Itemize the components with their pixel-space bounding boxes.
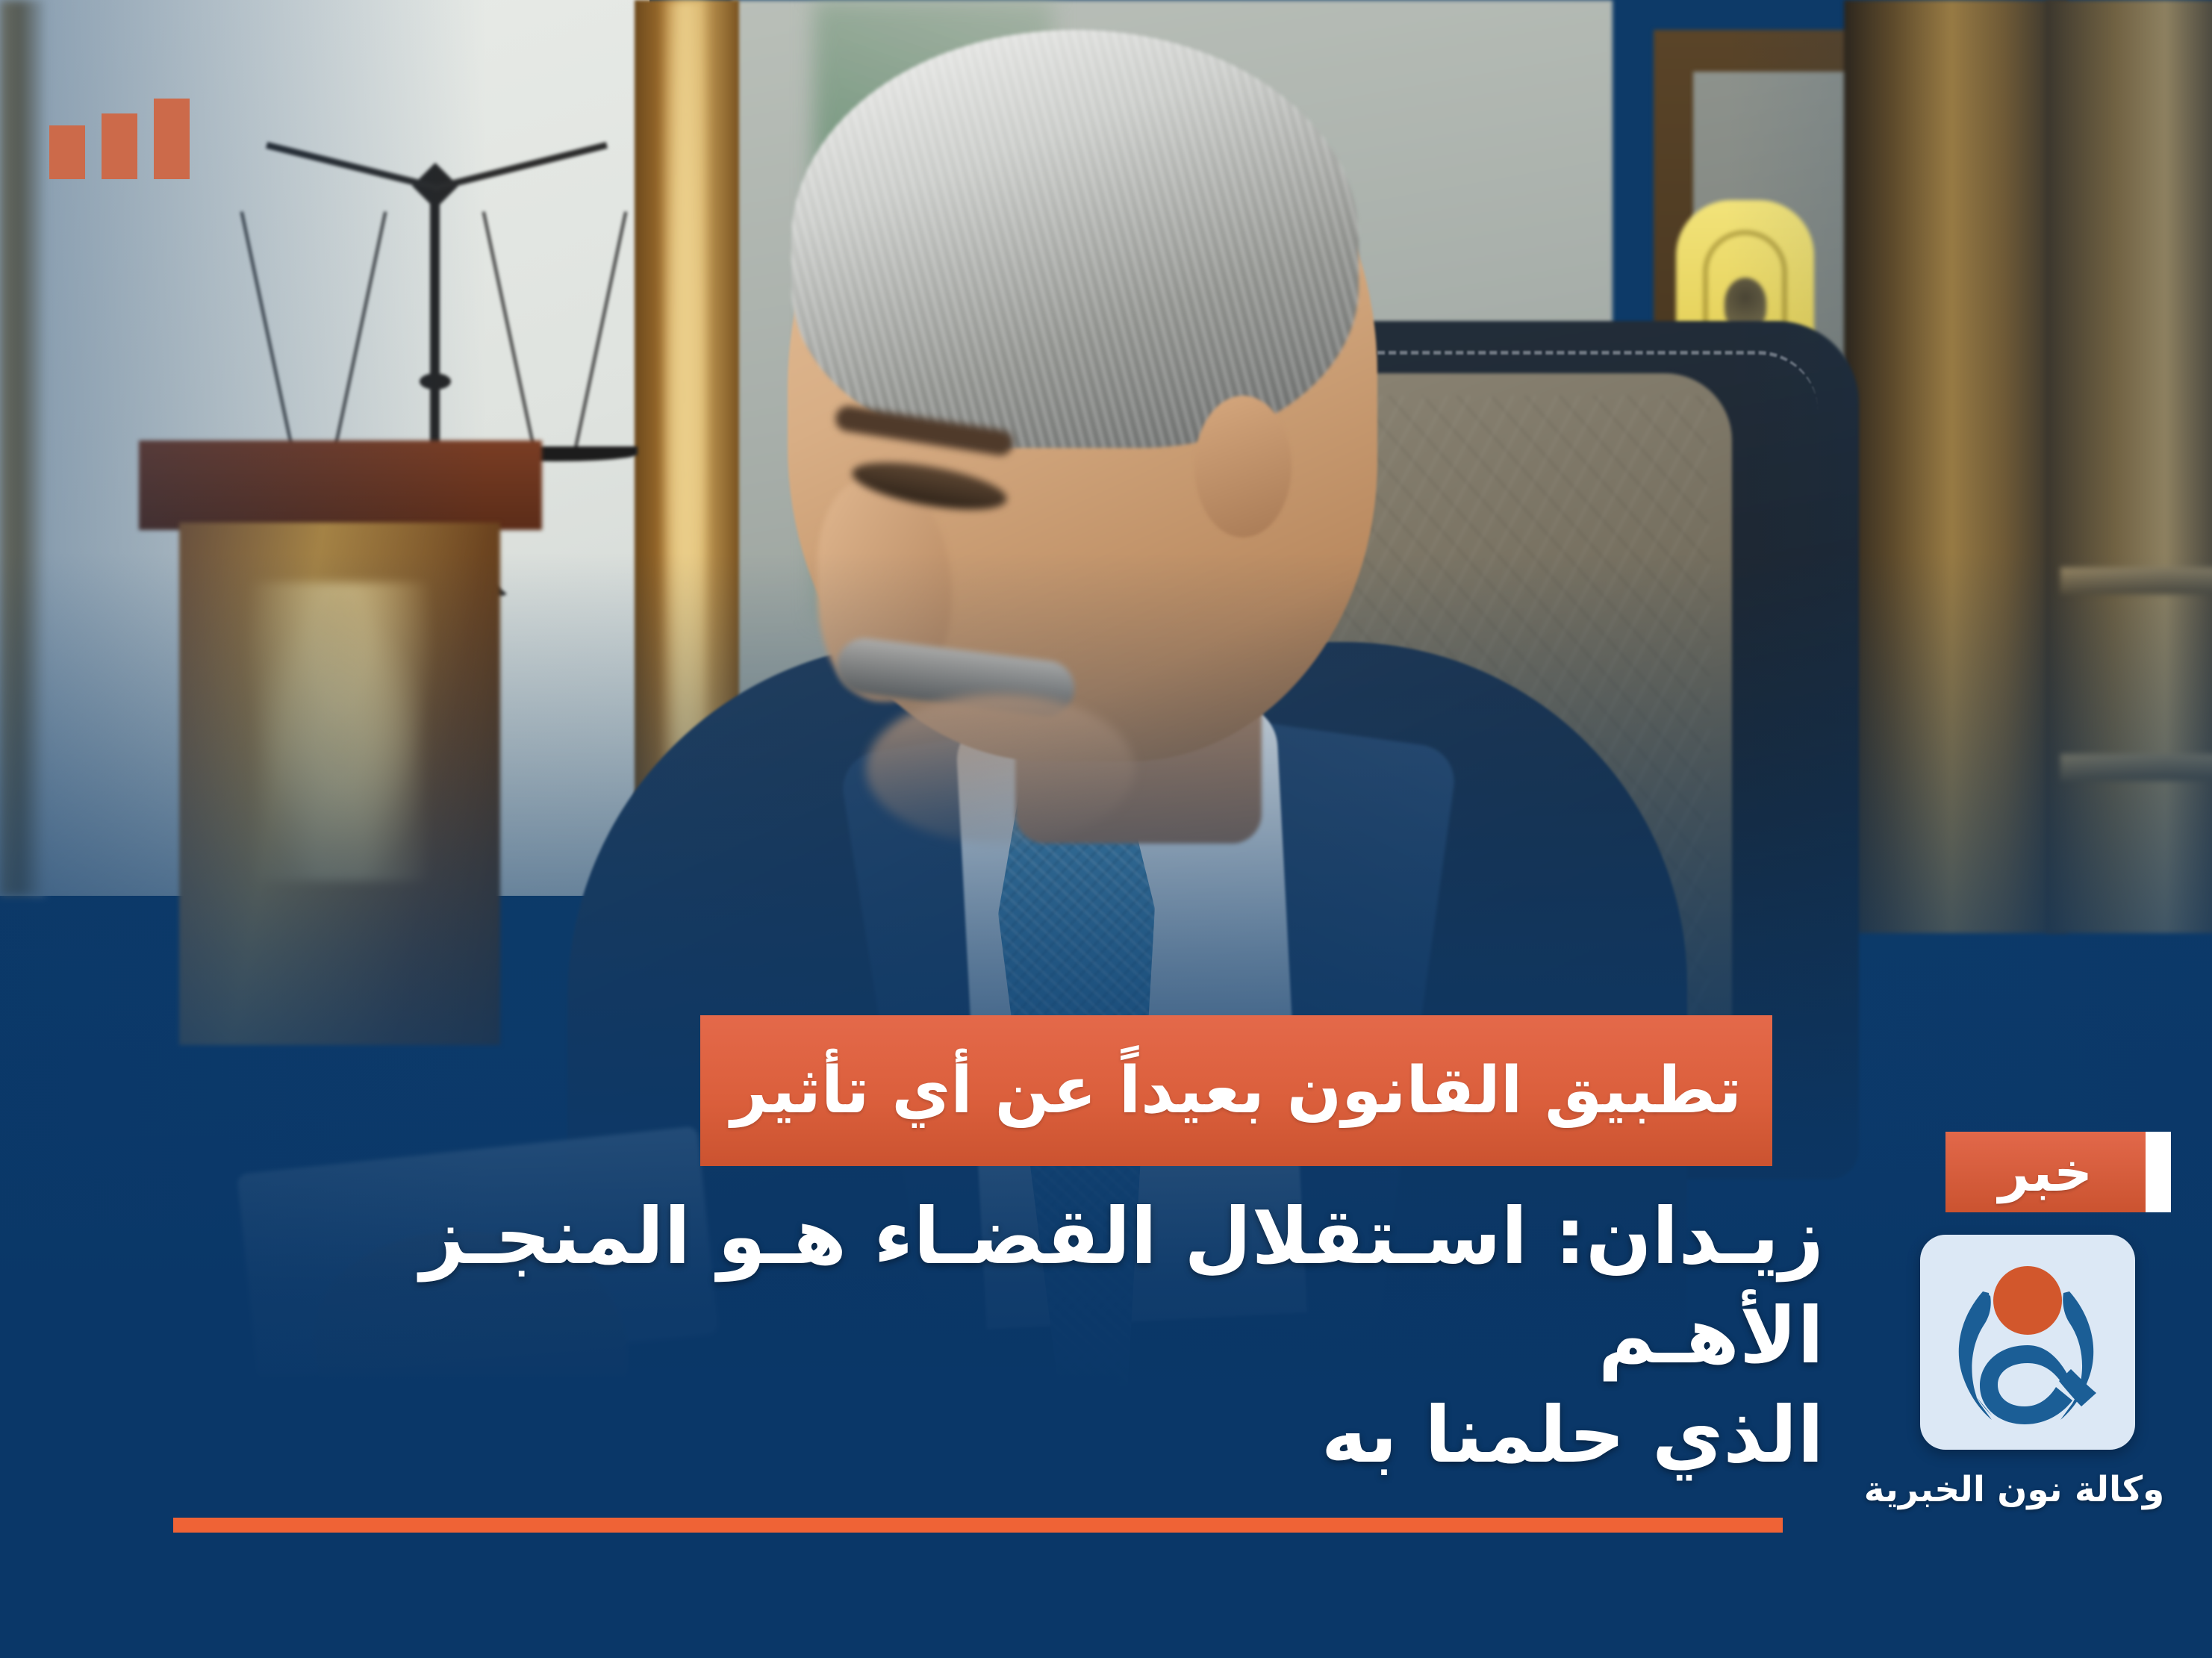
bar-3-icon [49, 125, 85, 179]
kicker-text: تطبيق القانون بعيداً عن أي تأثير [731, 1059, 1742, 1123]
kicker-banner: تطبيق القانون بعيداً عن أي تأثير [700, 1015, 1772, 1166]
agency-logo-icon [1920, 1235, 2135, 1450]
headline-line-2: الذي حلمنا به [405, 1386, 1824, 1485]
news-card: تطبيق القانون بعيداً عن أي تأثير زيـدان:… [0, 0, 2212, 1658]
brand-block: خبر وكالة نون الخبرية [1857, 1132, 2171, 1510]
badge-orange-box: خبر [1945, 1132, 2146, 1212]
bar-2-icon [102, 113, 137, 179]
bar-1-icon [154, 99, 190, 179]
headline-line-1: زيـدان: اسـتقلال القضـاء هـو المنجـز الأ… [420, 1191, 1824, 1381]
badge-label: خبر [1998, 1145, 2093, 1199]
badge-white-tick [2146, 1132, 2171, 1212]
three-bars-logo-icon [49, 99, 190, 179]
orange-divider-rule [173, 1518, 1783, 1533]
agency-name: وكالة نون الخبرية [1857, 1469, 2171, 1510]
news-badge: خبر [1945, 1132, 2171, 1212]
headline: زيـدان: اسـتقلال القضـاء هـو المنجـز الأ… [405, 1187, 1824, 1485]
